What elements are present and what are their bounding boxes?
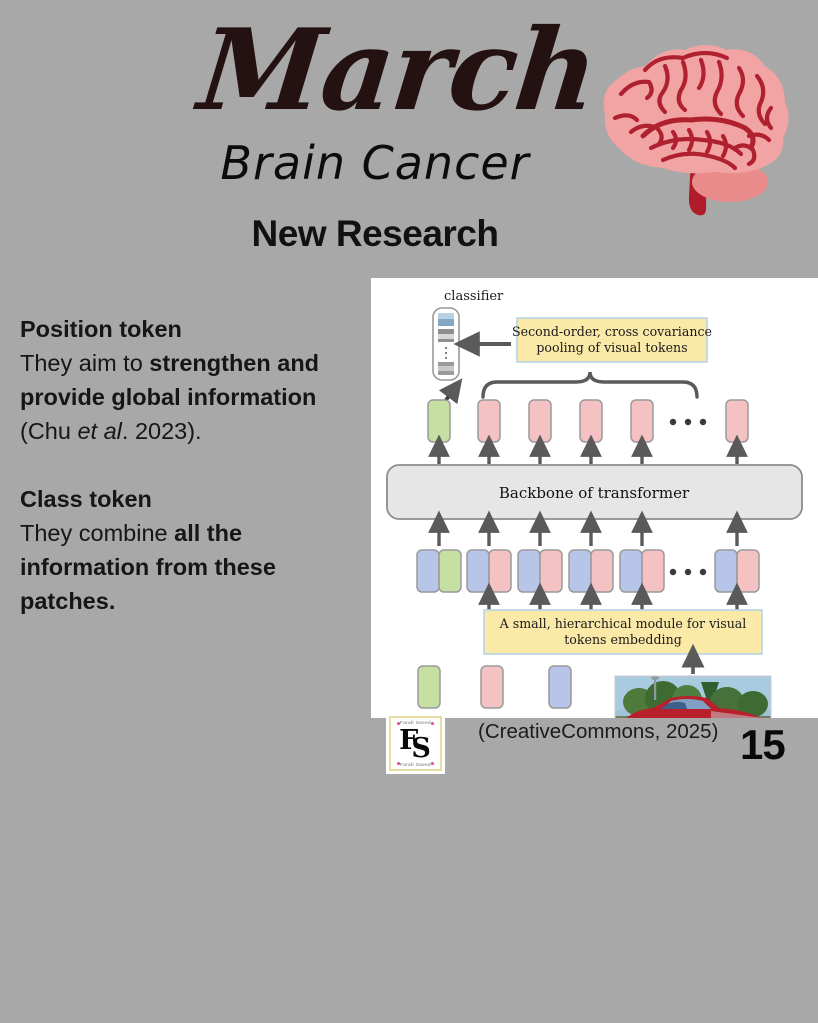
page-title: New Research <box>180 213 570 255</box>
brain-icon <box>585 36 795 226</box>
slide-root: March Brain Cancer New Research <box>0 0 818 1023</box>
pair2-visual-token <box>489 550 511 592</box>
legend-class-swatch <box>418 666 440 708</box>
section2-body: They combine all the information from th… <box>20 516 365 618</box>
embedding-to-backbone-arrows <box>439 522 737 546</box>
title-awareness: Brain Cancer <box>195 136 555 190</box>
section1-heading: Position token <box>20 312 365 346</box>
logo-dot-bl <box>397 762 400 765</box>
pooling-box-line1: Second-order, cross covariance <box>512 324 712 339</box>
top-token-visual-2 <box>529 400 551 442</box>
token-pair-4 <box>569 550 613 592</box>
content-text-block: Position token They aim to strengthen an… <box>20 312 365 618</box>
section2-heading: Class token <box>20 482 365 516</box>
token-pair-1 <box>417 550 461 592</box>
section1-citation-close: . 2023). <box>122 418 202 444</box>
legend-class-token: class token <box>412 666 446 718</box>
legend: class token visual token position token <box>412 666 585 718</box>
logo-frame: Farah Saeed FS Farah Saeed <box>389 716 442 771</box>
slide-header: March Brain Cancer New Research <box>0 0 818 278</box>
classifier-label: classifier <box>444 289 504 304</box>
token-pair-2 <box>467 550 511 592</box>
token-row-output <box>428 400 748 442</box>
top-token-visual-1 <box>478 400 500 442</box>
embedding-box-line1: A small, hierarchical module for visual <box>499 616 747 631</box>
pair3-position-token <box>518 550 540 592</box>
top-token-visual-3 <box>580 400 602 442</box>
section1-citation-open: (Chu <box>20 418 77 444</box>
page-number: 15 <box>740 719 785 771</box>
top-row-ellipsis <box>670 419 706 425</box>
figure-panel: classifier Second-order, cross covarianc… <box>371 278 818 718</box>
pair1-position-token <box>417 550 439 592</box>
transformer-architecture-diagram: classifier Second-order, cross covarianc… <box>371 278 818 718</box>
pooling-box-line2: pooling of visual tokens <box>536 340 687 355</box>
class-token-heading: Class token <box>20 486 152 512</box>
logo-monogram: FS <box>399 730 432 757</box>
pair4-position-token <box>569 550 591 592</box>
pair3-visual-token <box>540 550 562 592</box>
visual-tokens-brace <box>483 372 697 397</box>
top-token-visual-4 <box>631 400 653 442</box>
title-month: March <box>192 0 568 146</box>
section1-normal-text: They aim to <box>20 350 149 376</box>
pair1-class-token <box>439 550 461 592</box>
section2-normal-text: They combine <box>20 520 174 546</box>
section1-etal: et al <box>77 418 121 444</box>
pairn-position-token <box>715 550 737 592</box>
pair5-position-token <box>620 550 642 592</box>
backbone-output-arrows <box>439 446 737 464</box>
token-pair-5 <box>620 550 664 592</box>
logo-dot-tr <box>431 722 434 725</box>
figure-citation: (CreativeCommons, 2025) <box>478 719 718 745</box>
legend-position-swatch <box>549 666 571 708</box>
logo-dot-br <box>431 762 434 765</box>
token-pair-n <box>715 550 759 592</box>
text-spacer <box>20 448 365 482</box>
bottom-row-ellipsis <box>670 569 706 575</box>
embedding-box-line2: tokens embedding <box>564 632 682 647</box>
pair2-position-token <box>467 550 489 592</box>
legend-visual-token: visual token <box>473 666 510 718</box>
logo-initial-s: S <box>411 733 428 764</box>
token-row-input <box>417 550 759 592</box>
pairn-visual-token <box>737 550 759 592</box>
legend-visual-swatch <box>481 666 503 708</box>
pair4-visual-token <box>591 550 613 592</box>
position-token-heading: Position token <box>20 316 182 342</box>
backbone-label: Backbone of transformer <box>499 484 690 502</box>
top-token-visual-n <box>726 400 748 442</box>
section1-body: They aim to strengthen and provide globa… <box>20 346 365 448</box>
token-pair-3 <box>518 550 562 592</box>
pair5-visual-token <box>642 550 664 592</box>
legend-position-token: position token <box>536 666 585 718</box>
author-logo: Farah Saeed FS Farah Saeed <box>386 713 445 774</box>
top-token-class <box>428 400 450 442</box>
input-image-red-convertible <box>615 676 771 718</box>
